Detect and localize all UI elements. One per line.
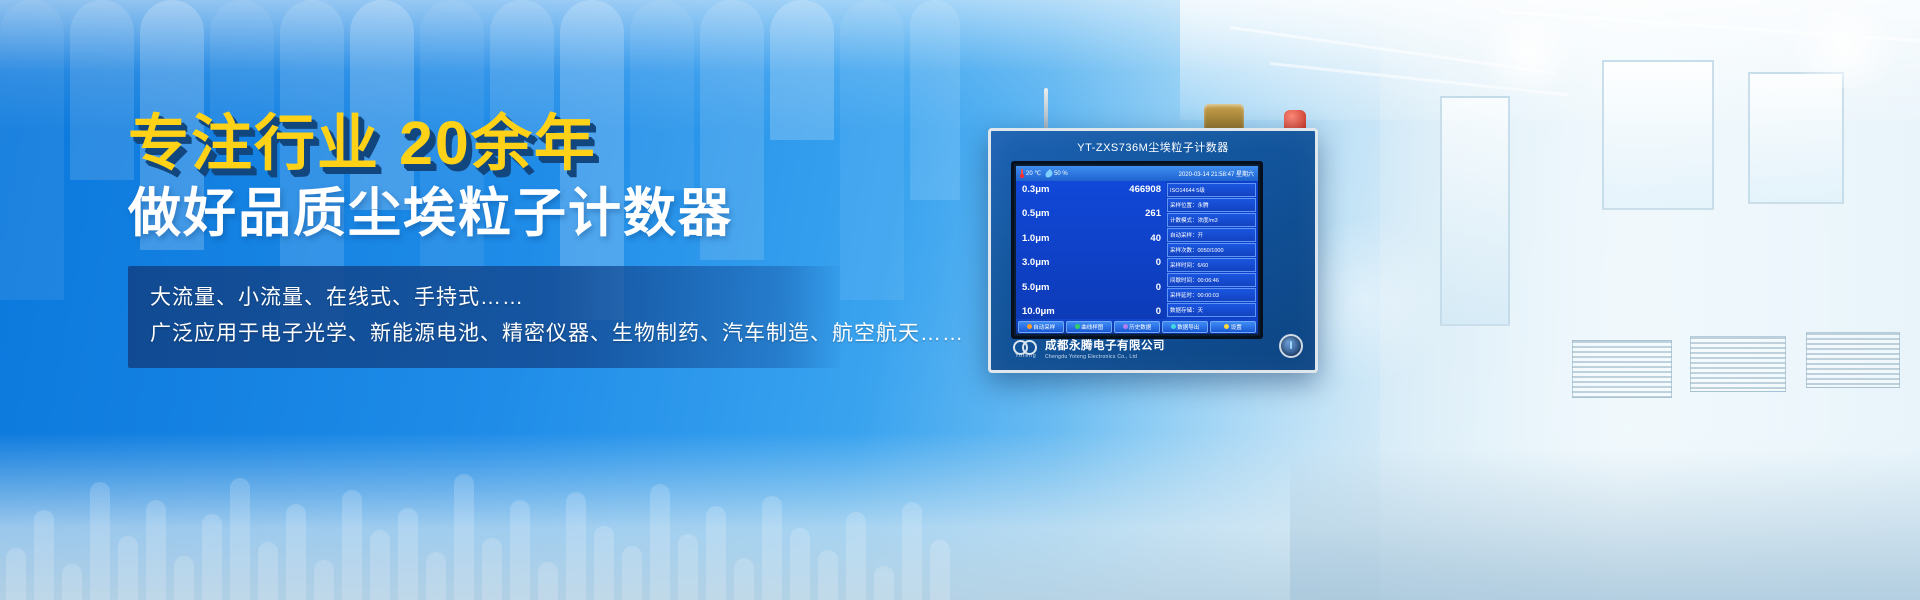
particle-size: 5.0μm	[1022, 282, 1049, 293]
particle-count: 261	[1145, 208, 1161, 219]
parameter-row: 采样时间：6/60	[1167, 258, 1256, 272]
particle-size: 10.0μm	[1022, 306, 1055, 317]
particle-size: 3.0μm	[1022, 257, 1049, 268]
floor-vent	[1690, 336, 1786, 392]
yoteng-logo-icon	[1013, 338, 1039, 352]
status-bar: 20 ℃ 50 % 2020-03-14 21:58:47 星期六	[1016, 166, 1258, 181]
table-row: 0.3μm 466908	[1022, 184, 1161, 195]
temperature-indicator: 20 ℃	[1020, 169, 1041, 178]
company-name-cn: 成都永腾电子有限公司	[1045, 337, 1165, 353]
water-drop-icon	[1044, 169, 1054, 179]
subtitle-panel: 大流量、小流量、在线式、手持式…… 广泛应用于电子光学、新能源电池、精密仪器、生…	[128, 266, 840, 368]
parameter-row: 采样位置：永腾	[1167, 198, 1256, 212]
curve-chart-button[interactable]: 曲线样图	[1066, 321, 1112, 333]
subtitle-line-2: 广泛应用于电子光学、新能源电池、精密仪器、生物制药、汽车制造、航空航天……	[150, 316, 818, 352]
particle-count-table: 0.3μm 466908 0.5μm 261 1.0μm 40	[1016, 181, 1166, 319]
table-row: 10.0μm 0	[1022, 306, 1161, 317]
auto-sample-button[interactable]: 自动采样	[1018, 321, 1064, 333]
humidity-indicator: 50 %	[1046, 170, 1068, 178]
export-icon	[1171, 324, 1176, 329]
corridor-window	[1602, 60, 1714, 210]
brand-text: 成都永腾电子有限公司 Chengdu Yoteng Electronics Co…	[1045, 337, 1165, 360]
play-icon	[1027, 324, 1032, 329]
parameter-panel: ISO14644 5级 采样位置：永腾 计数模式：浓度/m3 自动采样：开 采样…	[1166, 181, 1258, 319]
history-data-button[interactable]: 历史数据	[1114, 321, 1160, 333]
datetime-label: 2020-03-14 21:58:47 星期六	[1179, 169, 1254, 178]
floor-vent	[1572, 340, 1672, 398]
particle-counter-device: YT-ZXS736M尘埃粒子计数器 20 ℃ 50 % 2020-03-14 2…	[988, 128, 1318, 373]
temperature-value: 20 ℃	[1026, 170, 1041, 177]
table-row: 5.0μm 0	[1022, 282, 1161, 293]
subtitle-line-1: 大流量、小流量、在线式、手持式……	[150, 280, 818, 316]
device-model-title: YT-ZXS736M尘埃粒子计数器	[991, 139, 1315, 155]
table-row: 1.0μm 40	[1022, 233, 1161, 244]
power-button[interactable]	[1279, 334, 1303, 358]
particle-count: 0	[1156, 282, 1161, 293]
table-row: 0.5μm 261	[1022, 208, 1161, 219]
settings-button[interactable]: 设置	[1210, 321, 1256, 333]
hero-banner: 专注行业 20余年 做好品质尘埃粒子计数器 大流量、小流量、在线式、手持式…… …	[0, 0, 1920, 600]
device-branding: Yoteng 成都永腾电子有限公司 Chengdu Yoteng Electro…	[1013, 337, 1259, 360]
thermometer-icon	[1020, 169, 1024, 178]
screen-ui: 20 ℃ 50 % 2020-03-14 21:58:47 星期六 0.3μm	[1016, 166, 1258, 334]
humidity-value: 50 %	[1054, 171, 1068, 177]
particle-size: 0.5μm	[1022, 208, 1049, 219]
hero-copy: 专注行业 20余年 做好品质尘埃粒子计数器 大流量、小流量、在线式、手持式…… …	[128, 112, 888, 368]
company-name-en: Chengdu Yoteng Electronics Co., Ltd	[1045, 354, 1165, 360]
parameter-row: ISO14644 5级	[1167, 183, 1256, 197]
parameter-row: 采样延时：00:00:03	[1167, 288, 1256, 302]
particle-size: 1.0μm	[1022, 233, 1049, 244]
gear-icon	[1224, 324, 1229, 329]
headline-secondary: 做好品质尘埃粒子计数器	[128, 186, 888, 242]
particle-count: 40	[1150, 233, 1161, 244]
settings-label: 设置	[1231, 323, 1242, 331]
device-screen[interactable]: 20 ℃ 50 % 2020-03-14 21:58:47 星期六 0.3μm	[1011, 161, 1263, 339]
auto-sample-label: 自动采样	[1033, 323, 1055, 331]
parameter-row: 自动采样：开	[1167, 228, 1256, 242]
chart-icon	[1075, 324, 1080, 329]
particle-size: 0.3μm	[1022, 184, 1049, 195]
ceiling-lamp-glow	[1468, 18, 1588, 88]
history-data-label: 历史数据	[1129, 323, 1151, 331]
particle-count: 0	[1156, 306, 1161, 317]
data-export-button[interactable]: 数据导出	[1162, 321, 1208, 333]
antenna	[1044, 88, 1048, 132]
history-icon	[1123, 324, 1128, 329]
decorative-equalizer	[0, 450, 1000, 600]
particle-count: 466908	[1129, 184, 1161, 195]
screen-toolbar: 自动采样 曲线样图 历史数据 数据导出	[1016, 319, 1258, 334]
floor-vent	[1806, 332, 1900, 388]
ceiling-lamp-glow	[1778, 8, 1908, 88]
parameter-row: 采样次数：0050/1000	[1167, 243, 1256, 257]
curve-chart-label: 曲线样图	[1081, 323, 1103, 331]
parameter-row: 数据存储：天	[1167, 303, 1256, 317]
corridor-window	[1748, 72, 1844, 204]
floor	[1290, 450, 1920, 600]
table-row: 3.0μm 0	[1022, 257, 1161, 268]
screen-main: 0.3μm 466908 0.5μm 261 1.0μm 40	[1016, 181, 1258, 319]
parameter-row: 间歇时间：00:06:46	[1167, 273, 1256, 287]
particle-count: 0	[1156, 257, 1161, 268]
device-body: YT-ZXS736M尘埃粒子计数器 20 ℃ 50 % 2020-03-14 2…	[988, 128, 1318, 373]
parameter-row: 计数模式：浓度/m3	[1167, 213, 1256, 227]
data-export-label: 数据导出	[1177, 323, 1199, 331]
headline-primary: 专注行业 20余年	[128, 112, 888, 174]
